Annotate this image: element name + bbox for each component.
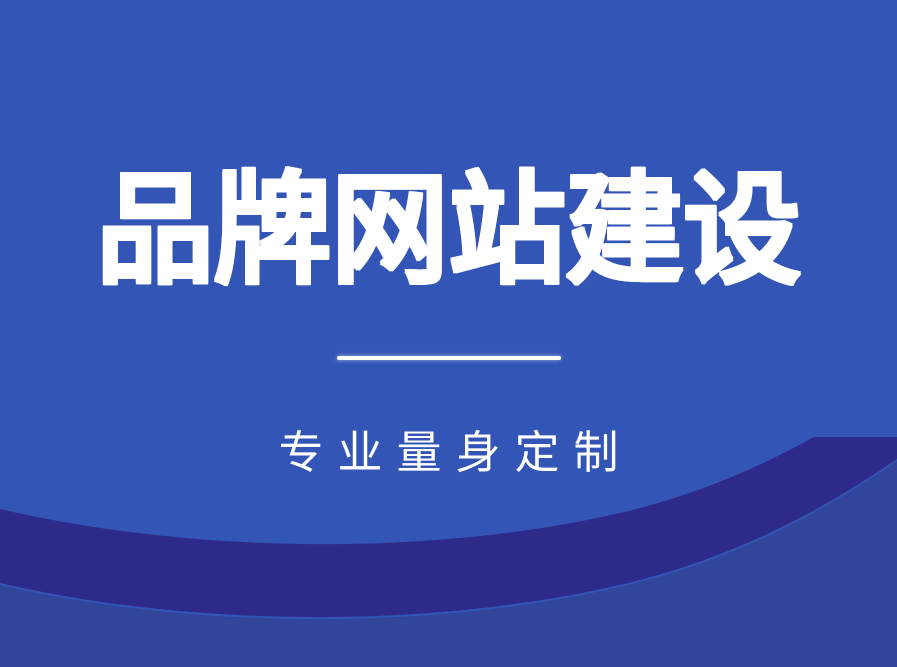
page-subtitle: 专业量身定制 <box>0 427 897 479</box>
page-title: 品牌网站建设 <box>13 168 883 293</box>
title-divider <box>337 356 561 360</box>
banner-content: 品牌网站建设 专业量身定制 <box>0 0 897 667</box>
brand-website-banner: 品牌网站建设 专业量身定制 <box>0 0 897 667</box>
